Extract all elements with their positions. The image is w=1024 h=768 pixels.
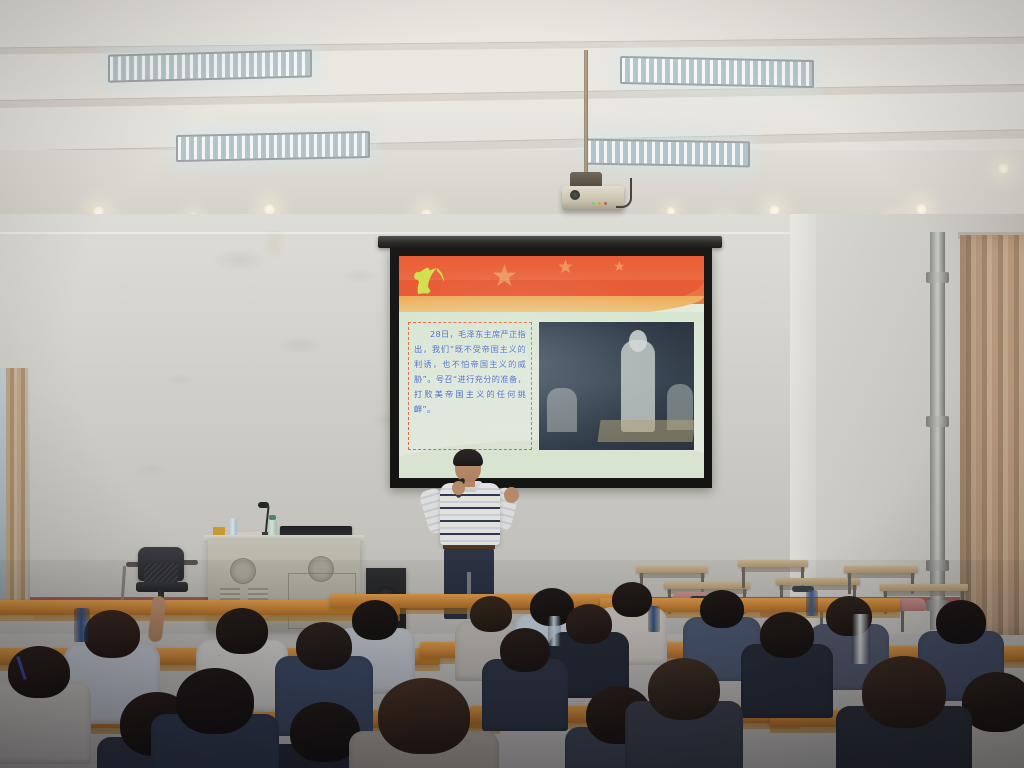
water-bottle [806,590,818,616]
audience-member-head [470,596,512,632]
audience-member-head [760,612,814,658]
audience-member-head [612,582,652,617]
audience-member-head [216,608,268,654]
lecture-hall-photo: ★ ★ ★ 28日，毛泽东主席严正指出，我们“既不受帝国主义的利诱，也不怕帝国主… [0,0,1024,768]
water-bottle [548,616,561,646]
water-bottle [74,608,90,642]
audience-member-head [8,646,70,698]
water-bottle [852,614,870,664]
audience-member-head [378,678,470,754]
audience-member-head [648,658,720,720]
water-bottle [648,606,660,632]
audience-area [0,560,1024,768]
audience-member-head [862,656,946,728]
tiered-desk-edge [0,615,400,621]
audience-member-head [84,610,140,658]
audience-member-head [296,622,352,670]
audience-member-head [936,600,986,644]
audience-member-head [566,604,612,644]
audience-member-head [500,628,550,672]
audience-member-head [176,668,254,734]
audience-member-head [352,600,398,640]
audience-member-head [700,590,744,628]
